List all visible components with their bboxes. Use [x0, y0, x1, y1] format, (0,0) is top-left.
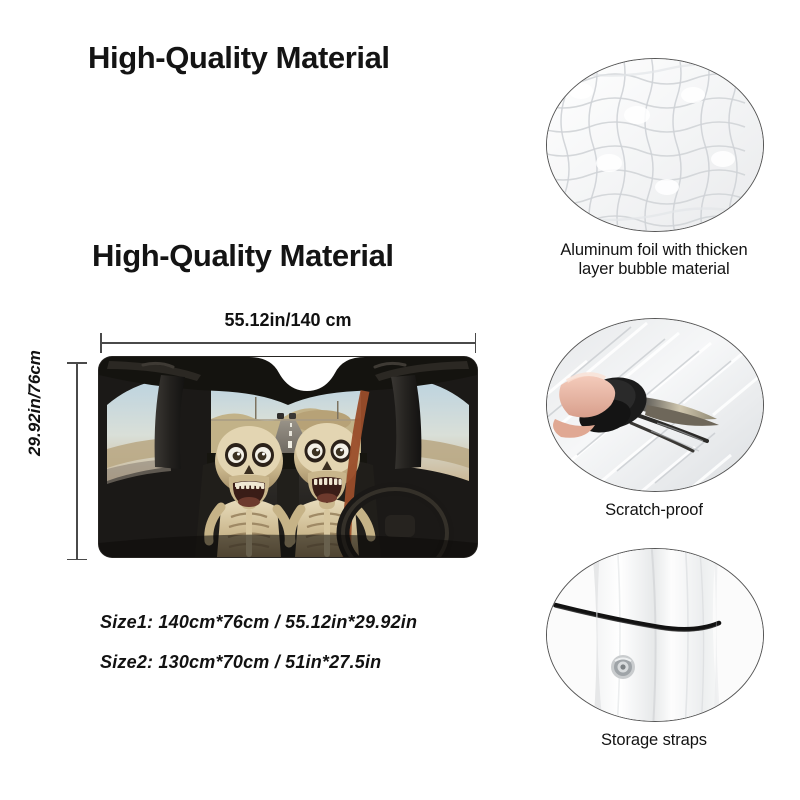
caption-line-2: layer bubble material — [546, 260, 762, 279]
width-measure-line — [100, 342, 476, 344]
page-title-top: High-Quality Material — [88, 40, 390, 76]
feature-caption-scratch-proof: Scratch-proof — [546, 501, 762, 520]
size-option-2: Size2: 130cm*70cm / 51in*27.5in — [100, 652, 381, 673]
size-option-1: Size1: 140cm*76cm / 55.12in*29.92in — [100, 612, 417, 633]
caption-line-1: Aluminum foil with thicken — [560, 241, 747, 259]
caption-line-1: Storage straps — [601, 731, 707, 749]
feature-bubble-material: Aluminum foil with thicken layer bubble … — [546, 58, 762, 280]
infographic-page: High-Quality Material High-Quality Mater… — [0, 0, 800, 800]
width-dimension-label: 55.12in/140 cm — [100, 310, 476, 331]
scratch-test-illustration — [547, 319, 763, 491]
feature-image-scratch-proof — [546, 318, 764, 492]
product-image — [99, 357, 477, 557]
feature-scratch-proof: Scratch-proof — [546, 318, 762, 520]
storage-strap-illustration — [547, 549, 763, 721]
feature-image-bubble-material — [546, 58, 764, 232]
height-measure-line — [76, 362, 78, 560]
caption-line-1: Scratch-proof — [605, 501, 703, 519]
feature-caption-bubble-material: Aluminum foil with thicken layer bubble … — [546, 241, 762, 280]
product-illustration — [99, 357, 477, 557]
page-title-middle: High-Quality Material — [92, 238, 394, 274]
feature-image-storage-straps — [546, 548, 764, 722]
height-dimension-label: 29.92in/76cm — [25, 335, 45, 471]
feature-storage-straps: Storage straps — [546, 548, 762, 750]
feature-caption-storage-straps: Storage straps — [546, 731, 762, 750]
bubble-foil-illustration — [547, 59, 763, 231]
